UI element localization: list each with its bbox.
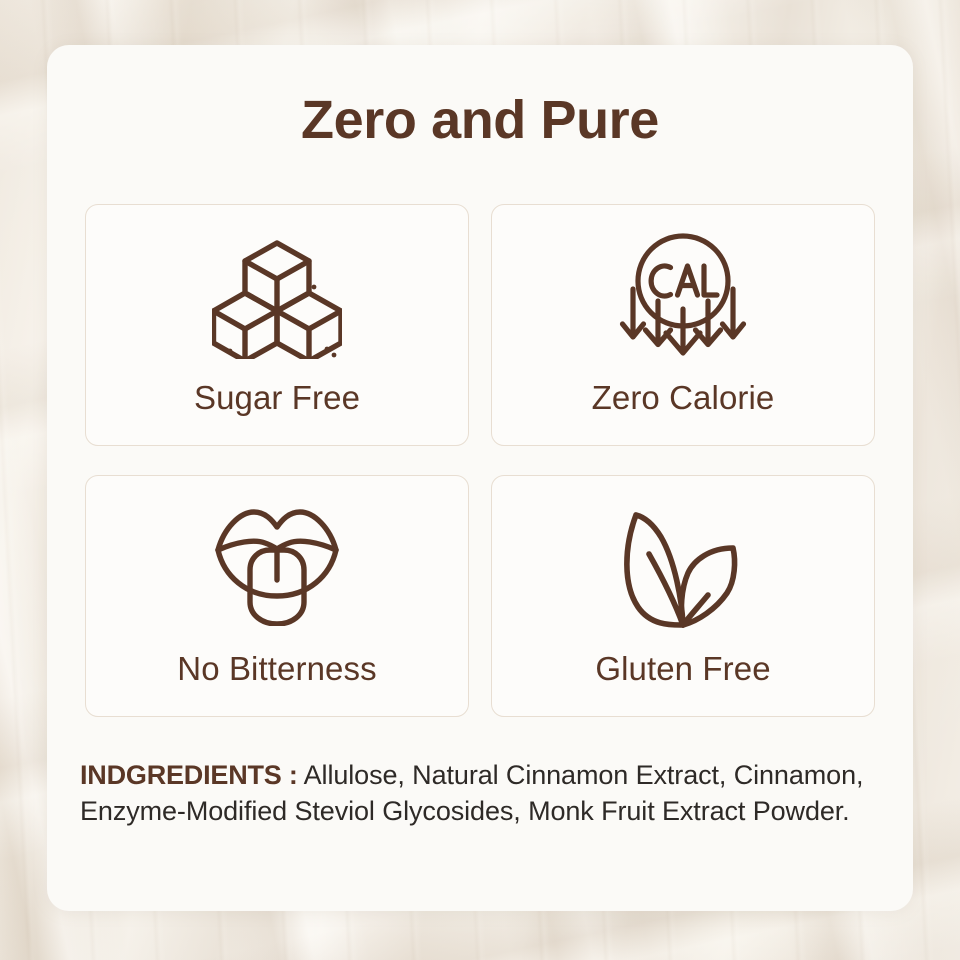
ingredients-heading: INDGREDIENTS :	[80, 760, 298, 790]
feature-card-label: Zero Calorie	[592, 381, 775, 414]
two-leaves-icon	[620, 502, 746, 630]
calorie-down-arrows-icon	[617, 231, 749, 359]
feature-card-no-bitterness[interactable]: No Bitterness	[85, 475, 469, 717]
feature-card-sugar-free[interactable]: Sugar Free	[85, 204, 469, 446]
feature-card-gluten-free[interactable]: Gluten Free	[491, 475, 875, 717]
feature-card-label: Gluten Free	[595, 652, 770, 685]
page-title: Zero and Pure	[47, 93, 913, 147]
mouth-tongue-icon	[214, 502, 340, 630]
feature-card-label: Sugar Free	[194, 381, 360, 414]
feature-card-grid: Sugar Free	[85, 204, 875, 717]
content-panel: Zero and Pure	[47, 45, 913, 911]
sugar-cubes-icon	[212, 231, 342, 359]
feature-card-label: No Bitterness	[177, 652, 376, 685]
page-root: Zero and Pure	[0, 0, 960, 960]
feature-card-zero-calorie[interactable]: Zero Calorie	[491, 204, 875, 446]
ingredients-block: INDGREDIENTS : Allulose, Natural Cinnamo…	[80, 758, 870, 830]
